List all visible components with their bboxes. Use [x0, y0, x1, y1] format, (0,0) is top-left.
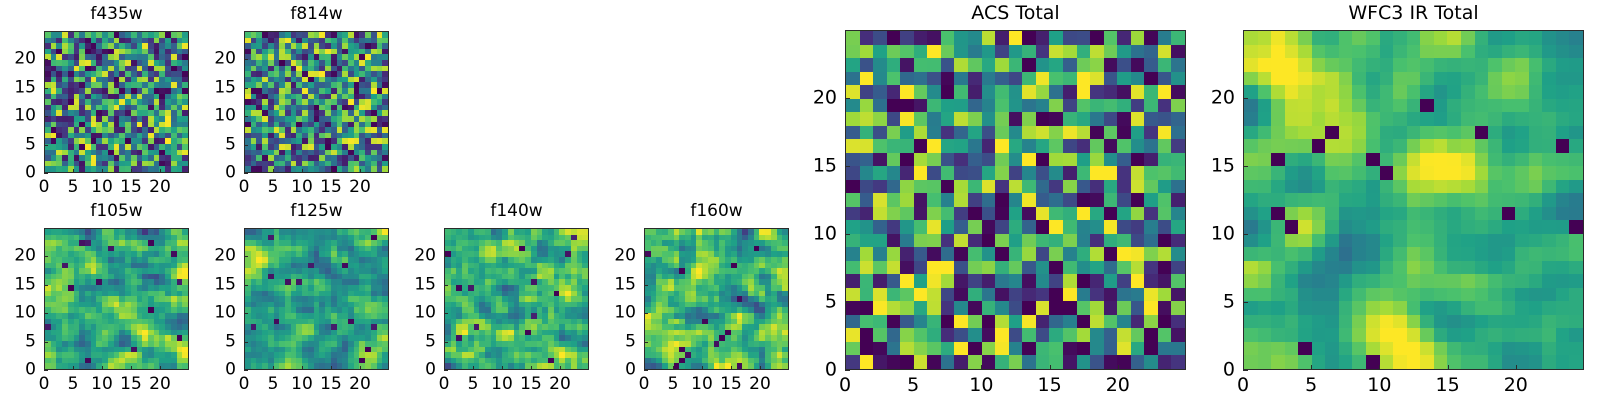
panel-title-f125w: f125w [244, 203, 389, 220]
yticklabel-f140w-0: 0 [400, 362, 436, 379]
xticklabel-f105w-0: 0 [39, 376, 50, 393]
ytick-f105w-5 [44, 342, 48, 343]
yticklabel-wfc3-ir-total-10: 10 [1199, 225, 1235, 244]
xticklabel-f160w-5: 5 [668, 376, 679, 393]
heatmap-grid [846, 31, 1185, 369]
yticklabel-acs-total-0: 0 [801, 361, 837, 380]
yticklabel-f140w-10: 10 [400, 305, 436, 322]
ytick-f814w-20 [244, 59, 248, 60]
xtick-f125w-5 [273, 366, 274, 370]
yticklabel-f814w-0: 0 [200, 165, 236, 182]
xticklabel-f814w-5: 5 [268, 179, 279, 196]
ytick-f814w-5 [244, 145, 248, 146]
ytick-f125w-20 [244, 256, 248, 257]
xtick-f105w-10 [102, 366, 103, 370]
yticklabel-f105w-0: 0 [0, 362, 36, 379]
xtick-f814w-10 [302, 169, 303, 173]
xticklabel-wfc3-ir-total-5: 5 [1305, 376, 1317, 395]
xticklabel-acs-total-10: 10 [969, 376, 993, 395]
yticklabel-wfc3-ir-total-5: 5 [1199, 293, 1235, 312]
xticklabel-f435w-10: 10 [91, 179, 113, 196]
xtick-f160w-20 [760, 366, 761, 370]
ytick-f105w-20 [44, 256, 48, 257]
xticklabel-f140w-20: 20 [549, 376, 571, 393]
xticklabel-f125w-15: 15 [320, 376, 342, 393]
xticklabel-f125w-5: 5 [268, 376, 279, 393]
xticklabel-f140w-10: 10 [491, 376, 513, 393]
xtick-f814w-20 [360, 169, 361, 173]
ytick-f435w-0 [44, 173, 48, 174]
xtick-wfc3-ir-total-20 [1516, 365, 1517, 370]
xticklabel-wfc3-ir-total-15: 15 [1436, 376, 1460, 395]
axes-f140w [444, 228, 589, 370]
yticklabel-f125w-0: 0 [200, 362, 236, 379]
panel-f105w: f105w0055101015152020 [0, 203, 203, 398]
xtick-f435w-15 [131, 169, 132, 173]
panel-f435w: f435w0055101015152020 [0, 6, 203, 201]
xtick-wfc3-ir-total-5 [1311, 365, 1312, 370]
xticklabel-f435w-5: 5 [68, 179, 79, 196]
xticklabel-wfc3-ir-total-0: 0 [1237, 376, 1249, 395]
yticklabel-f814w-20: 20 [200, 51, 236, 68]
yticklabel-acs-total-10: 10 [801, 225, 837, 244]
xticklabel-f435w-20: 20 [149, 179, 171, 196]
yticklabel-f435w-5: 5 [0, 136, 36, 153]
axes-f105w [44, 228, 189, 370]
axes-f435w [44, 31, 189, 173]
xtick-acs-total-5 [913, 365, 914, 370]
yticklabel-f125w-15: 15 [200, 276, 236, 293]
axes-f160w [644, 228, 789, 370]
xticklabel-f435w-0: 0 [39, 179, 50, 196]
xtick-f105w-20 [160, 366, 161, 370]
axes-f125w [244, 228, 389, 370]
yticklabel-f140w-15: 15 [400, 276, 436, 293]
ytick-f140w-20 [444, 256, 448, 257]
yticklabel-f105w-10: 10 [0, 305, 36, 322]
xticklabel-f814w-15: 15 [320, 179, 342, 196]
xtick-acs-total-10 [981, 365, 982, 370]
axes-wfc3-ir-total [1243, 30, 1584, 370]
xtick-f160w-5 [673, 366, 674, 370]
ytick-f140w-5 [444, 342, 448, 343]
panel-f140w: f140w0055101015152020 [400, 203, 603, 398]
ytick-wfc3-ir-total-15 [1243, 166, 1248, 167]
yticklabel-acs-total-20: 20 [801, 89, 837, 108]
panel-title-f140w: f140w [444, 203, 589, 220]
heatmap-grid [1244, 31, 1583, 369]
yticklabel-wfc3-ir-total-15: 15 [1199, 157, 1235, 176]
ytick-f435w-20 [44, 59, 48, 60]
ytick-f160w-5 [644, 342, 648, 343]
panel-f814w: f814w0055101015152020 [200, 6, 403, 201]
xticklabel-f814w-20: 20 [349, 179, 371, 196]
yticklabel-acs-total-15: 15 [801, 157, 837, 176]
ytick-f435w-5 [44, 145, 48, 146]
xtick-f125w-15 [331, 366, 332, 370]
xtick-f140w-5 [473, 366, 474, 370]
ytick-acs-total-15 [845, 166, 850, 167]
ytick-wfc3-ir-total-0 [1243, 370, 1248, 371]
xticklabel-f105w-5: 5 [68, 376, 79, 393]
xticklabel-f160w-10: 10 [691, 376, 713, 393]
panel-title-f105w: f105w [44, 203, 189, 220]
xticklabel-f435w-15: 15 [120, 179, 142, 196]
xticklabel-f125w-10: 10 [291, 376, 313, 393]
yticklabel-f435w-10: 10 [0, 108, 36, 125]
xticklabel-f140w-15: 15 [520, 376, 542, 393]
xtick-f105w-5 [73, 366, 74, 370]
xticklabel-f160w-20: 20 [749, 376, 771, 393]
heatmap-grid [45, 229, 188, 369]
heatmap-grid [245, 32, 388, 172]
xtick-wfc3-ir-total-10 [1379, 365, 1380, 370]
xticklabel-f105w-20: 20 [149, 376, 171, 393]
panel-acs-total: ACS Total0055101015152020 [801, 4, 1200, 398]
xticklabel-f105w-15: 15 [120, 376, 142, 393]
xticklabel-acs-total-20: 20 [1106, 376, 1130, 395]
ytick-f160w-15 [644, 285, 648, 286]
xticklabel-f814w-0: 0 [239, 179, 250, 196]
ytick-f125w-5 [244, 342, 248, 343]
ytick-f814w-15 [244, 88, 248, 89]
yticklabel-f160w-10: 10 [600, 305, 636, 322]
xtick-acs-total-15 [1050, 365, 1051, 370]
xticklabel-wfc3-ir-total-20: 20 [1504, 376, 1528, 395]
xtick-acs-total-20 [1118, 365, 1119, 370]
ytick-f160w-0 [644, 370, 648, 371]
yticklabel-f125w-10: 10 [200, 305, 236, 322]
yticklabel-f814w-10: 10 [200, 108, 236, 125]
yticklabel-f105w-15: 15 [0, 276, 36, 293]
heatmap-grid [45, 32, 188, 172]
xtick-wfc3-ir-total-15 [1448, 365, 1449, 370]
xticklabel-f140w-0: 0 [439, 376, 450, 393]
heatmap-grid [445, 229, 588, 369]
xticklabel-acs-total-0: 0 [839, 376, 851, 395]
yticklabel-f140w-5: 5 [400, 333, 436, 350]
ytick-acs-total-10 [845, 234, 850, 235]
ytick-acs-total-20 [845, 98, 850, 99]
yticklabel-f814w-5: 5 [200, 136, 236, 153]
axes-f814w [244, 31, 389, 173]
xticklabel-f125w-0: 0 [239, 376, 250, 393]
ytick-wfc3-ir-total-20 [1243, 98, 1248, 99]
ytick-f435w-15 [44, 88, 48, 89]
xtick-f140w-10 [502, 366, 503, 370]
ytick-f125w-10 [244, 313, 248, 314]
xticklabel-acs-total-5: 5 [907, 376, 919, 395]
yticklabel-f125w-20: 20 [200, 248, 236, 265]
xtick-f125w-20 [360, 366, 361, 370]
ytick-f160w-20 [644, 256, 648, 257]
yticklabel-f160w-5: 5 [600, 333, 636, 350]
yticklabel-f105w-5: 5 [0, 333, 36, 350]
yticklabel-acs-total-5: 5 [801, 293, 837, 312]
ytick-f105w-0 [44, 370, 48, 371]
xticklabel-f814w-10: 10 [291, 179, 313, 196]
xtick-f814w-5 [273, 169, 274, 173]
yticklabel-f435w-15: 15 [0, 79, 36, 96]
ytick-f140w-0 [444, 370, 448, 371]
xticklabel-f140w-5: 5 [468, 376, 479, 393]
axes-acs-total [845, 30, 1186, 370]
ytick-wfc3-ir-total-5 [1243, 302, 1248, 303]
xtick-f435w-10 [102, 169, 103, 173]
yticklabel-wfc3-ir-total-0: 0 [1199, 361, 1235, 380]
xticklabel-f105w-10: 10 [91, 376, 113, 393]
ytick-acs-total-5 [845, 302, 850, 303]
xtick-f125w-10 [302, 366, 303, 370]
ytick-f160w-10 [644, 313, 648, 314]
ytick-wfc3-ir-total-10 [1243, 234, 1248, 235]
ytick-f814w-0 [244, 173, 248, 174]
yticklabel-f125w-5: 5 [200, 333, 236, 350]
panel-title-f814w: f814w [244, 6, 389, 23]
xticklabel-acs-total-15: 15 [1038, 376, 1062, 395]
ytick-f140w-10 [444, 313, 448, 314]
xtick-f140w-20 [560, 366, 561, 370]
figure-canvas: f435w0055101015152020f814w00551010151520… [0, 0, 1600, 400]
yticklabel-f140w-20: 20 [400, 248, 436, 265]
xtick-f105w-15 [131, 366, 132, 370]
xtick-f435w-20 [160, 169, 161, 173]
panel-f160w: f160w0055101015152020 [600, 203, 803, 398]
yticklabel-f435w-0: 0 [0, 165, 36, 182]
panel-f125w: f125w0055101015152020 [200, 203, 403, 398]
ytick-f125w-0 [244, 370, 248, 371]
heatmap-grid [645, 229, 788, 369]
xticklabel-wfc3-ir-total-10: 10 [1367, 376, 1391, 395]
heatmap-grid [245, 229, 388, 369]
xtick-f140w-15 [531, 366, 532, 370]
ytick-f140w-15 [444, 285, 448, 286]
xtick-f435w-5 [73, 169, 74, 173]
xticklabel-f160w-15: 15 [720, 376, 742, 393]
panel-title-wfc3-ir-total: WFC3 IR Total [1243, 4, 1584, 23]
panel-title-f160w: f160w [644, 203, 789, 220]
panel-title-acs-total: ACS Total [845, 4, 1186, 23]
xtick-f160w-15 [731, 366, 732, 370]
xticklabel-f125w-20: 20 [349, 376, 371, 393]
yticklabel-f160w-15: 15 [600, 276, 636, 293]
xticklabel-f160w-0: 0 [639, 376, 650, 393]
ytick-f105w-10 [44, 313, 48, 314]
ytick-f814w-10 [244, 116, 248, 117]
yticklabel-f105w-20: 20 [0, 248, 36, 265]
panel-wfc3-ir-total: WFC3 IR Total0055101015152020 [1199, 4, 1598, 398]
xtick-f160w-10 [702, 366, 703, 370]
ytick-f435w-10 [44, 116, 48, 117]
yticklabel-wfc3-ir-total-20: 20 [1199, 89, 1235, 108]
yticklabel-f814w-15: 15 [200, 79, 236, 96]
ytick-f105w-15 [44, 285, 48, 286]
panel-title-f435w: f435w [44, 6, 189, 23]
xtick-f814w-15 [331, 169, 332, 173]
ytick-f125w-15 [244, 285, 248, 286]
ytick-acs-total-0 [845, 370, 850, 371]
yticklabel-f160w-0: 0 [600, 362, 636, 379]
yticklabel-f435w-20: 20 [0, 51, 36, 68]
yticklabel-f160w-20: 20 [600, 248, 636, 265]
